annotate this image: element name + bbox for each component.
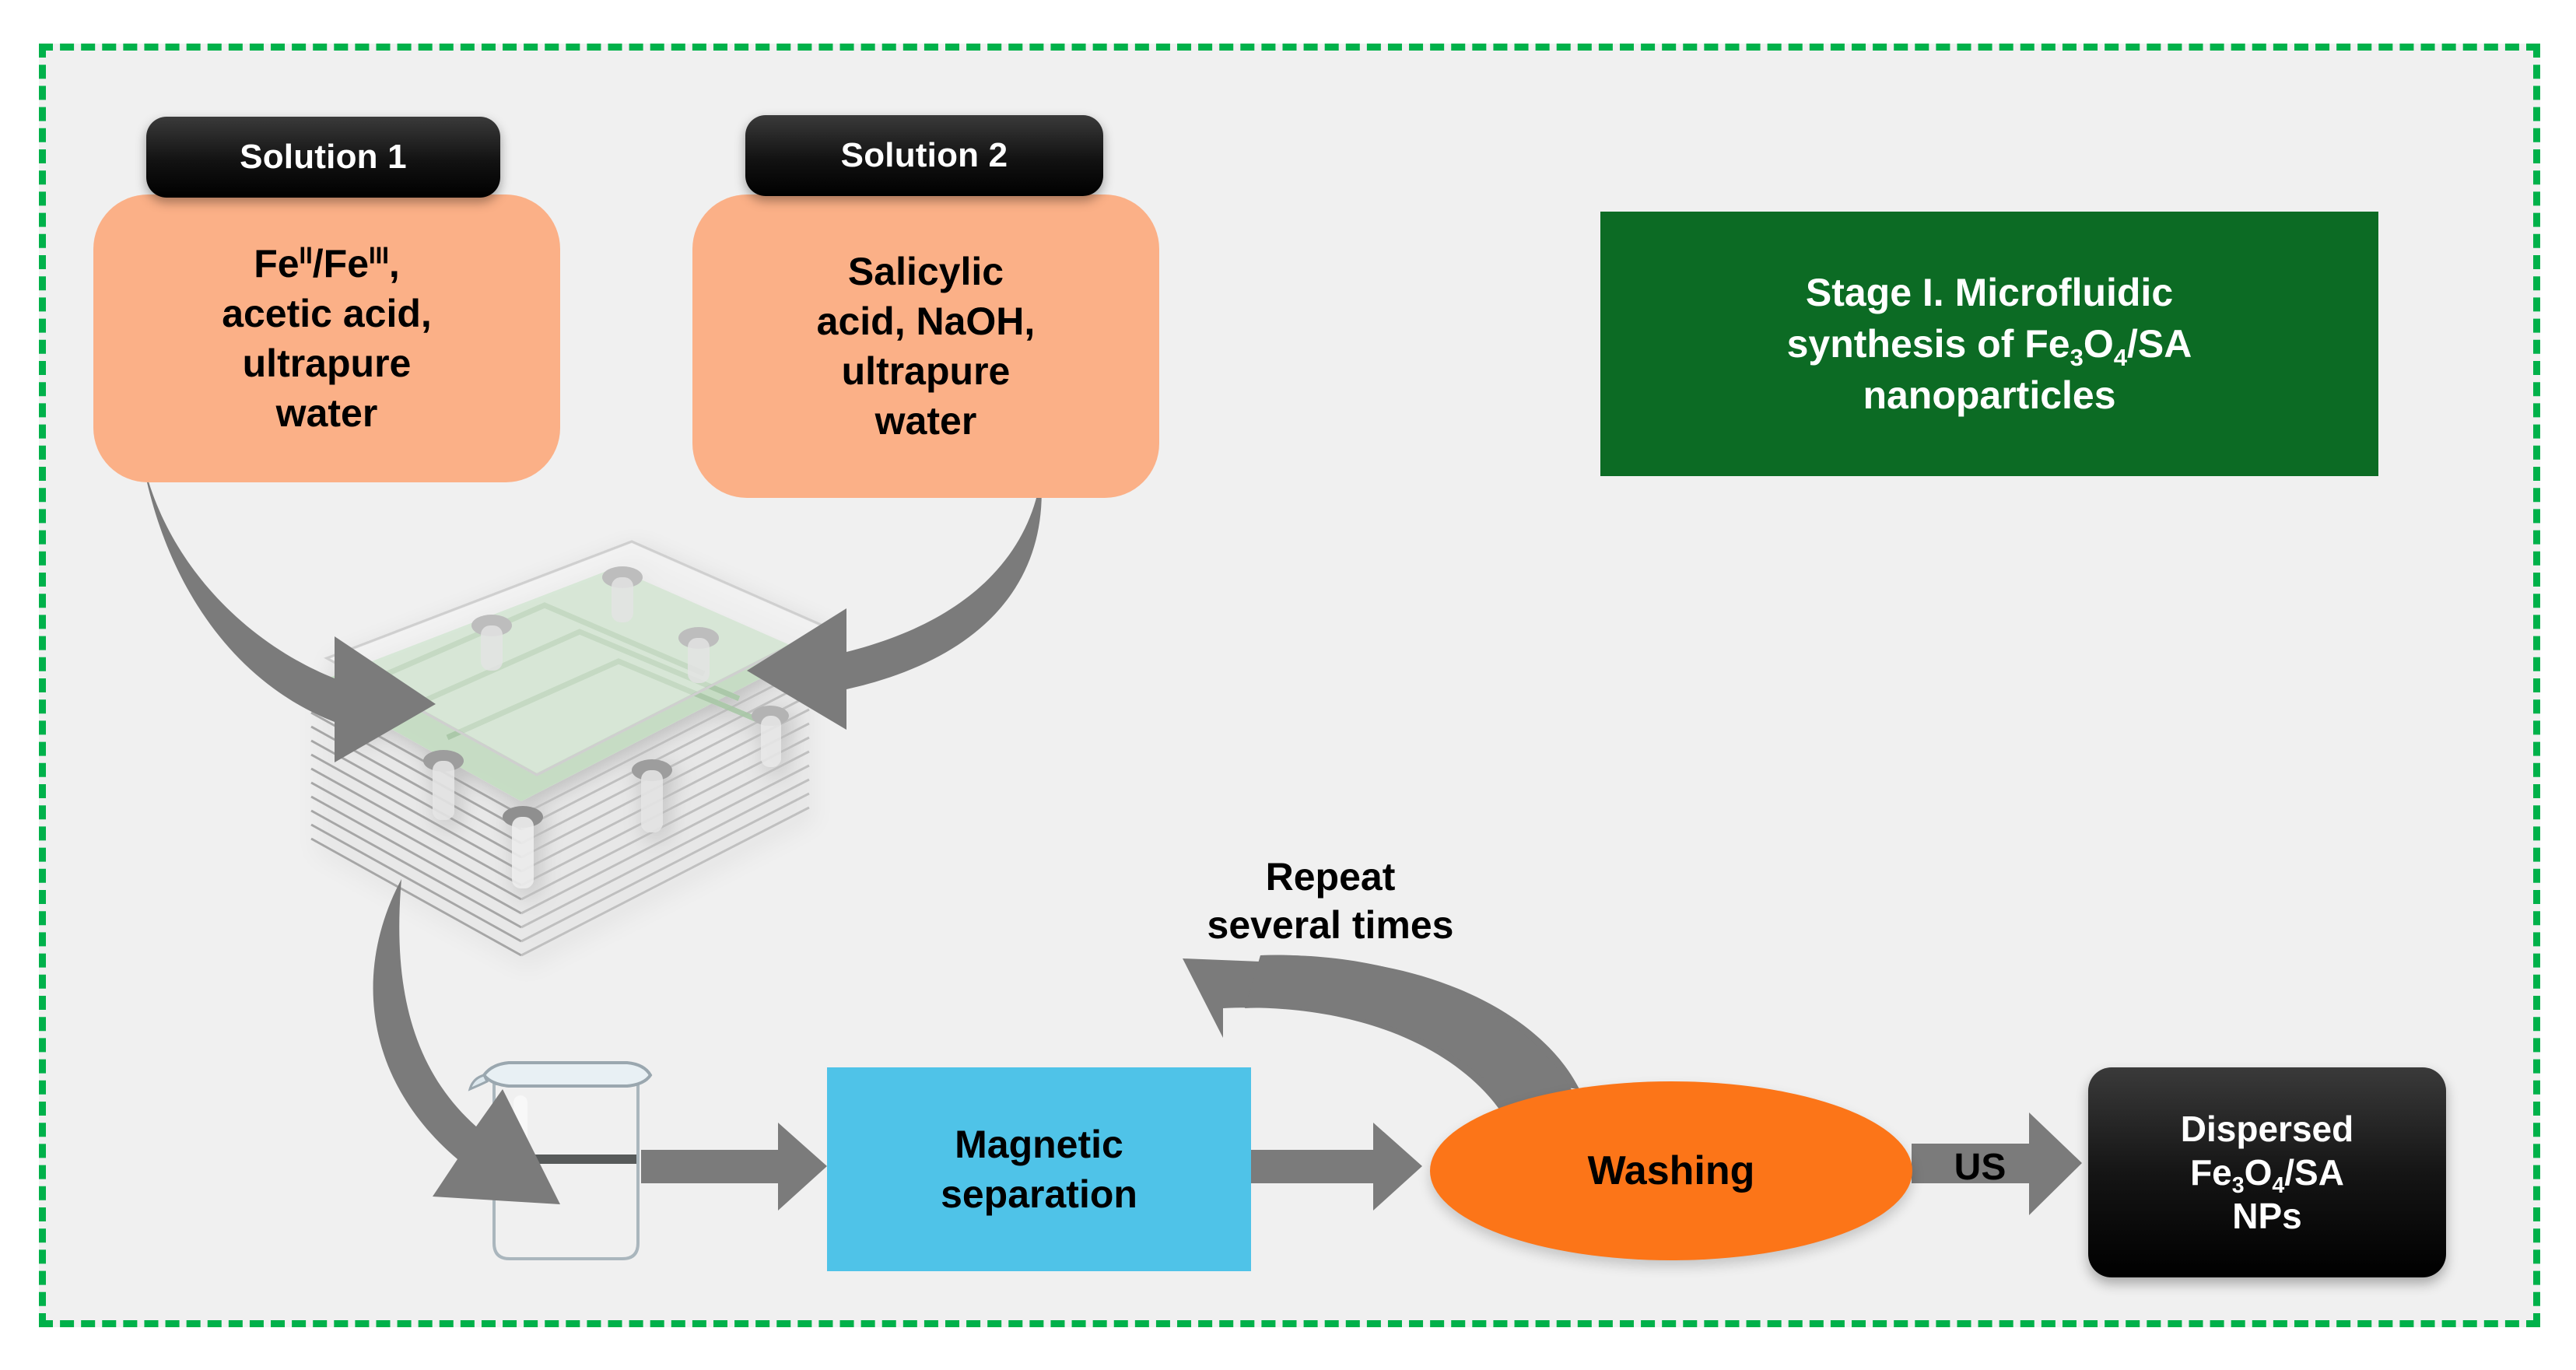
magnetic-separation-box: Magnetic separation <box>827 1067 1251 1271</box>
stage-banner-line3: nanoparticles <box>1787 370 2192 421</box>
solution-2-text: Salicylic acid, NaOH, ultrapure water <box>817 247 1036 446</box>
product-line3: NPs <box>2181 1194 2353 1238</box>
solution-2-tag: Solution 2 <box>745 115 1103 196</box>
washing-ellipse: Washing <box>1430 1081 1912 1260</box>
solution-1-tag: Solution 1 <box>146 117 500 198</box>
solution-2-line3: ultrapure <box>817 346 1036 396</box>
magnetic-separation-line2: separation <box>941 1169 1137 1219</box>
solution-2-line1: Salicylic <box>817 247 1036 296</box>
solution-2-box: Salicylic acid, NaOH, ultrapure water <box>692 194 1159 498</box>
stage-banner: Stage I. Microfluidic synthesis of Fe3O4… <box>1600 212 2378 476</box>
solution-1-line2: acetic acid, <box>222 289 432 338</box>
repeat-label-text: Repeat several times <box>1207 853 1454 949</box>
solution-2-tag-label: Solution 2 <box>841 136 1008 175</box>
solution-1-line3: ultrapure <box>222 338 432 388</box>
washing-label: Washing <box>1588 1148 1755 1194</box>
product-text: Dispersed Fe3O4/SA NPs <box>2181 1107 2353 1238</box>
solution-2-line2: acid, NaOH, <box>817 296 1036 346</box>
repeat-label: Repeat several times <box>1089 846 1572 955</box>
solution-1-box: FeII/FeIII, acetic acid, ultrapure water <box>93 194 560 482</box>
stage-banner-text: Stage I. Microfluidic synthesis of Fe3O4… <box>1787 267 2192 421</box>
magnetic-separation-text: Magnetic separation <box>941 1119 1137 1219</box>
solution-1-text: FeII/FeIII, acetic acid, ultrapure water <box>222 239 432 438</box>
repeat-line2: several times <box>1207 901 1454 949</box>
stage-banner-line1: Stage I. Microfluidic <box>1787 267 2192 318</box>
solution-1-line4: water <box>222 388 432 438</box>
magnetic-separation-line1: Magnetic <box>941 1119 1137 1169</box>
us-label: US <box>1933 1144 2027 1190</box>
repeat-line1: Repeat <box>1207 853 1454 901</box>
figure-canvas: FeII/FeIII, acetic acid, ultrapure water… <box>0 0 2576 1370</box>
solution-1-tag-label: Solution 1 <box>240 138 407 177</box>
product-line1: Dispersed <box>2181 1107 2353 1151</box>
solution-2-line4: water <box>817 396 1036 446</box>
product-box: Dispersed Fe3O4/SA NPs <box>2088 1067 2446 1277</box>
us-label-text: US <box>1954 1146 2006 1189</box>
